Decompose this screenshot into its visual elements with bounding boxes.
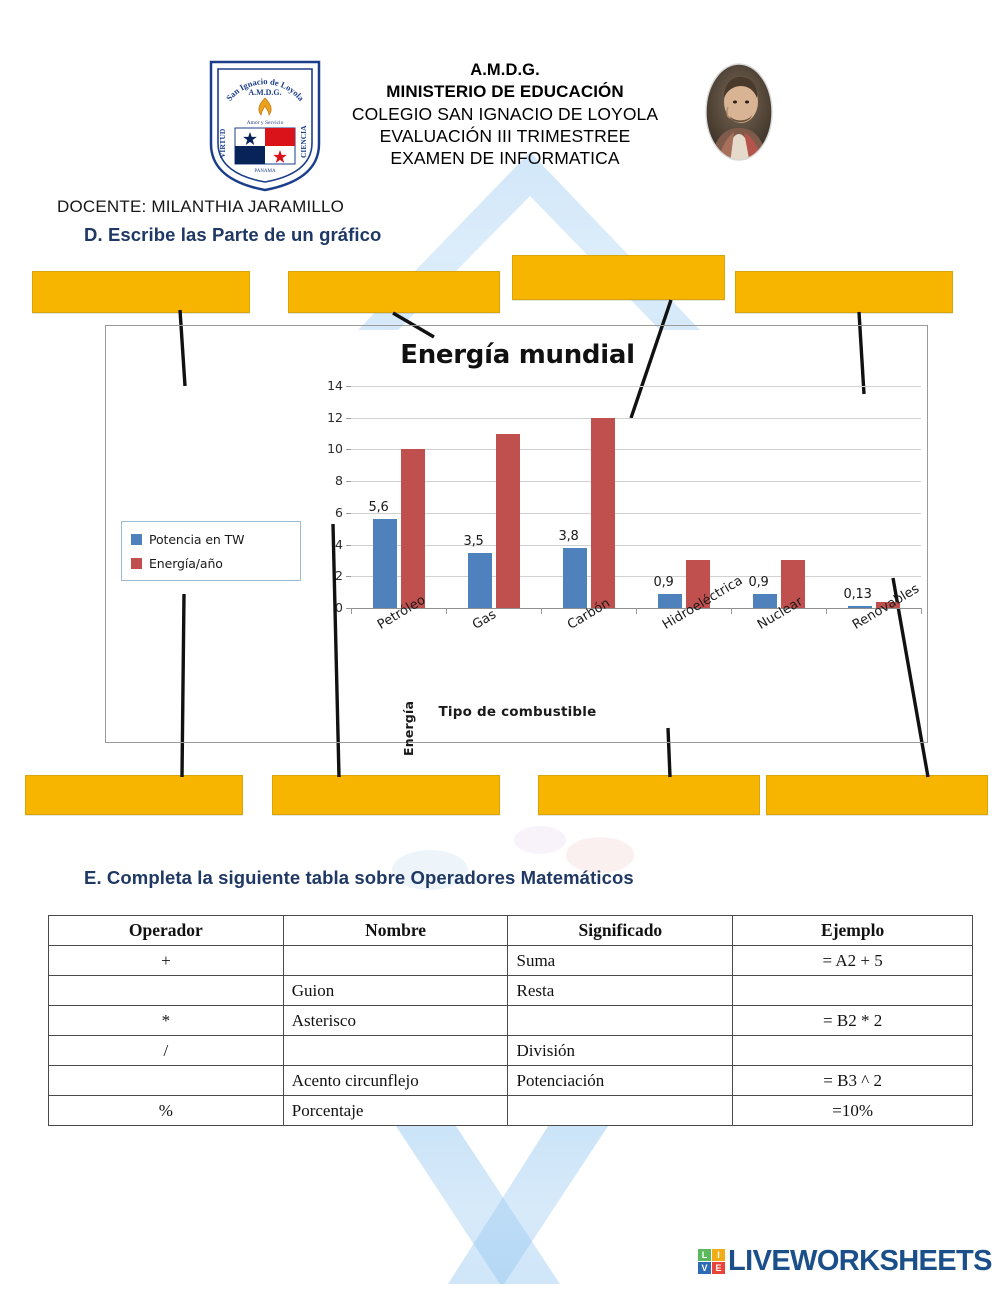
cell-ejemplo[interactable] xyxy=(733,1036,973,1066)
chart-y-tick-label: 0 xyxy=(309,600,343,615)
operators-table: Operador Nombre Significado Ejemplo +Sum… xyxy=(48,915,973,1126)
svg-text:PANAMA: PANAMA xyxy=(254,169,276,174)
cell-significado: Suma xyxy=(508,946,733,976)
cell-nombre: Porcentaje xyxy=(283,1096,508,1126)
school-crest-icon: San Ignacio de Loyola A.M.D.G. Amor y Se… xyxy=(205,58,325,193)
cell-operador[interactable] xyxy=(49,1066,284,1096)
chart-y-tick-label: 14 xyxy=(309,378,343,393)
chart-y-tick-label: 2 xyxy=(309,568,343,583)
section-d-title: D. Escribe las Parte de un gráfico xyxy=(84,224,381,246)
chart-bar-potencia xyxy=(658,594,682,608)
chart-y-tick-mark xyxy=(346,418,351,419)
chart-bar-potencia xyxy=(373,519,397,608)
cell-ejemplo[interactable] xyxy=(733,976,973,1006)
chart-bar-energia xyxy=(591,418,615,608)
header-text-block: A.M.D.G. MINISTERIO DE EDUCACIÓN COLEGIO… xyxy=(330,60,680,169)
answer-box-top-1[interactable] xyxy=(32,271,250,313)
answer-box-bottom-2[interactable] xyxy=(272,775,500,815)
chart-title: Energía mundial xyxy=(106,340,929,370)
cell-nombre[interactable] xyxy=(283,946,508,976)
chart-container: Energía mundial Potencia en TW Energía/a… xyxy=(105,325,928,743)
svg-text:A.M.D.G.: A.M.D.G. xyxy=(248,88,281,97)
table-row: +Suma= A2 + 5 xyxy=(49,946,973,976)
saint-ignatius-portrait-icon xyxy=(700,60,778,164)
chart-bar-potencia xyxy=(468,553,492,609)
table-row: GuionResta xyxy=(49,976,973,1006)
cell-nombre: Acento circunflejo xyxy=(283,1066,508,1096)
chart-data-label: 3,5 xyxy=(464,534,484,549)
cell-ejemplo: =10% xyxy=(733,1096,973,1126)
cell-significado: Potenciación xyxy=(508,1066,733,1096)
chart-data-label: 0,9 xyxy=(654,575,674,590)
legend-label-energia: Energía/año xyxy=(149,556,223,571)
logo-cell-e: E xyxy=(712,1262,725,1274)
chart-y-tick-mark xyxy=(346,481,351,482)
chart-y-tick-mark xyxy=(346,576,351,577)
header-line-evaluation: EVALUACIÓN III TRIMESTREE xyxy=(330,125,680,147)
cell-significado[interactable] xyxy=(508,1006,733,1036)
chart-gridline xyxy=(351,481,921,482)
chart-gridline xyxy=(351,545,921,546)
logo-wordmark: LIVEWORKSHEETS xyxy=(728,1245,992,1278)
column-header-significado: Significado xyxy=(508,916,733,946)
document-header: San Ignacio de Loyola A.M.D.G. Amor y Se… xyxy=(0,36,1000,176)
answer-box-bottom-4[interactable] xyxy=(766,775,988,815)
chart-y-tick-mark xyxy=(346,545,351,546)
logo-cell-i: I xyxy=(712,1249,725,1261)
chart-bar-potencia xyxy=(753,594,777,608)
section-e-title: E. Completa la siguiente tabla sobre Ope… xyxy=(84,867,634,889)
cell-ejemplo: = A2 + 5 xyxy=(733,946,973,976)
cell-operador: / xyxy=(49,1036,284,1066)
header-line-exam: EXAMEN DE INFORMATICA xyxy=(330,147,680,169)
chart-gridline xyxy=(351,449,921,450)
chart-y-tick-label: 8 xyxy=(309,473,343,488)
logo-letter-grid-icon: L I V E xyxy=(698,1249,725,1274)
chart-legend: Potencia en TW Energía/año xyxy=(121,521,301,581)
answer-box-bottom-1[interactable] xyxy=(25,775,243,815)
chart-data-label: 0,13 xyxy=(844,587,872,602)
cell-nombre[interactable] xyxy=(283,1036,508,1066)
chart-x-tick-mark xyxy=(731,608,732,614)
table-row: *Asterisco= B2 * 2 xyxy=(49,1006,973,1036)
teacher-line: DOCENTE: MILANTHIA JARAMILLO xyxy=(57,197,344,217)
chart-gridline xyxy=(351,513,921,514)
chart-bar-energia xyxy=(496,434,520,608)
chart-x-tick-mark xyxy=(351,608,352,614)
cell-operador: % xyxy=(49,1096,284,1126)
table-header-row: Operador Nombre Significado Ejemplo xyxy=(49,916,973,946)
svg-text:CIENCIA: CIENCIA xyxy=(299,125,308,158)
logo-cell-l: L xyxy=(698,1249,711,1261)
chart-x-tick-mark xyxy=(826,608,827,614)
table-row: %Porcentaje=10% xyxy=(49,1096,973,1126)
column-header-operador: Operador xyxy=(49,916,284,946)
cell-significado: Resta xyxy=(508,976,733,1006)
answer-box-top-2[interactable] xyxy=(288,271,500,313)
header-line-ministry: MINISTERIO DE EDUCACIÓN xyxy=(330,81,680,103)
chart-x-tick-mark xyxy=(446,608,447,614)
cell-significado[interactable] xyxy=(508,1096,733,1126)
cell-ejemplo: = B3 ^ 2 xyxy=(733,1066,973,1096)
chart-y-tick-mark xyxy=(346,449,351,450)
chart-x-category-label: Gas xyxy=(470,607,499,633)
cell-ejemplo: = B2 * 2 xyxy=(733,1006,973,1036)
chart-data-label: 0,9 xyxy=(749,575,769,590)
chart-y-tick-label: 6 xyxy=(309,505,343,520)
legend-swatch-blue-icon xyxy=(131,534,142,545)
chart-data-label: 5,6 xyxy=(369,500,389,515)
legend-swatch-red-icon xyxy=(131,558,142,569)
legend-item-potencia: Potencia en TW xyxy=(131,532,291,547)
cell-operador: + xyxy=(49,946,284,976)
liveworksheets-logo: L I V E LIVEWORKSHEETS xyxy=(698,1245,992,1278)
chart-x-tick-mark xyxy=(636,608,637,614)
answer-box-top-4[interactable] xyxy=(735,271,953,313)
table-row: Acento circunflejoPotenciación= B3 ^ 2 xyxy=(49,1066,973,1096)
svg-text:VIRTUD: VIRTUD xyxy=(218,128,227,158)
chart-data-label: 3,8 xyxy=(559,529,579,544)
chart-y-tick-mark xyxy=(346,513,351,514)
chart-x-tick-mark xyxy=(921,608,922,614)
chart-y-tick-label: 12 xyxy=(309,410,343,425)
cell-operador[interactable] xyxy=(49,976,284,1006)
logo-cell-v: V xyxy=(698,1262,711,1274)
chart-bar-potencia xyxy=(563,548,587,608)
chart-x-tick-mark xyxy=(541,608,542,614)
chart-y-tick-label: 4 xyxy=(309,537,343,552)
chart-gridline xyxy=(351,418,921,419)
legend-item-energia: Energía/año xyxy=(131,556,291,571)
column-header-ejemplo: Ejemplo xyxy=(733,916,973,946)
chart-x-axis-title: Tipo de combustible xyxy=(106,704,929,720)
chart-y-tick-label: 10 xyxy=(309,441,343,456)
chart-gridline xyxy=(351,576,921,577)
header-line-school: COLEGIO SAN IGNACIO DE LOYOLA xyxy=(330,103,680,125)
header-line-amdg: A.M.D.G. xyxy=(330,60,680,81)
answer-box-top-3[interactable] xyxy=(512,255,725,300)
svg-text:Amor y Servicio: Amor y Servicio xyxy=(247,120,284,126)
cell-operador: * xyxy=(49,1006,284,1036)
answer-box-bottom-3[interactable] xyxy=(538,775,760,815)
chart-y-tick-mark xyxy=(346,386,351,387)
legend-label-potencia: Potencia en TW xyxy=(149,532,244,547)
column-header-nombre: Nombre xyxy=(283,916,508,946)
chart-gridline xyxy=(351,386,921,387)
chart-bar-energia xyxy=(401,449,425,608)
cell-significado: División xyxy=(508,1036,733,1066)
table-row: /División xyxy=(49,1036,973,1066)
cell-nombre: Asterisco xyxy=(283,1006,508,1036)
cell-nombre: Guion xyxy=(283,976,508,1006)
